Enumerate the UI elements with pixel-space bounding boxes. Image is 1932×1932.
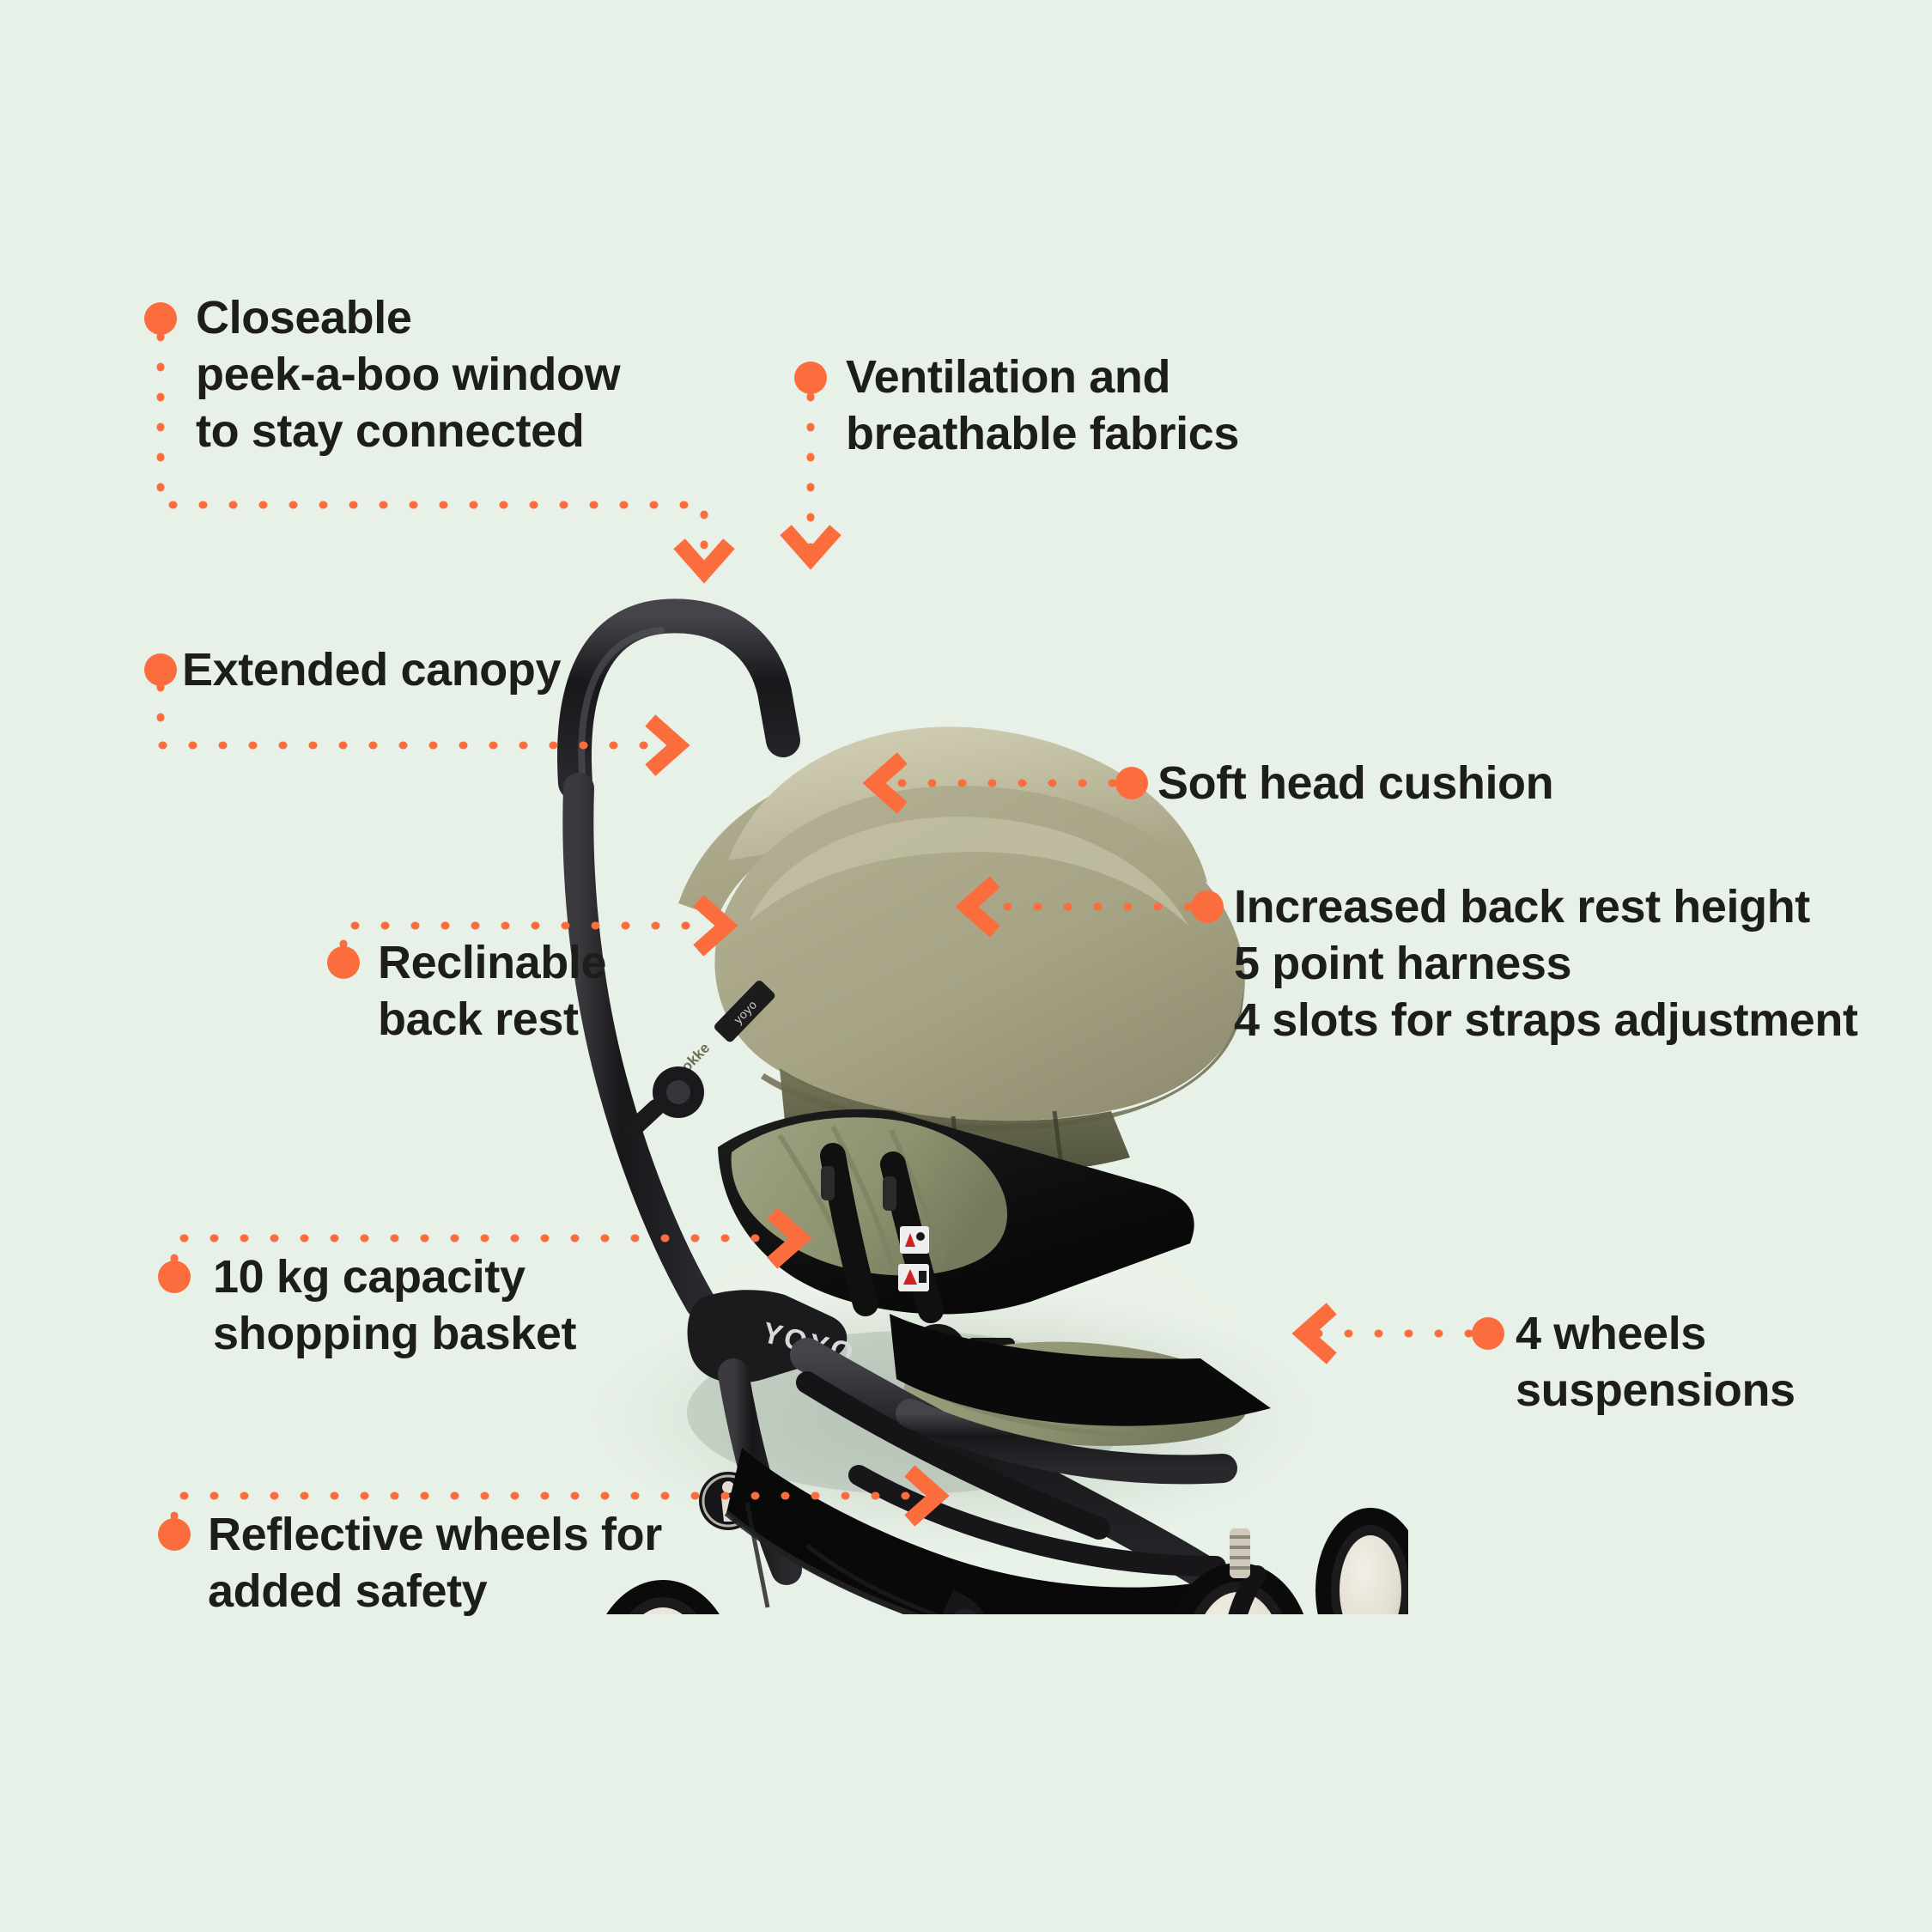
callout-line: peek-a-boo window [196,346,620,403]
marker-basket [158,1261,191,1293]
callout-line: 4 slots for straps adjustment [1234,992,1858,1048]
callout-back-rest-harness: Increased back rest height 5 point harne… [1234,878,1858,1048]
infographic-canvas: yoyo stokke [0,0,1932,1932]
handle-bar [574,616,783,783]
callout-reflective-wheels: Reflective wheels for added safety [208,1506,662,1619]
callout-line: 5 point harness [1234,935,1858,992]
callout-line: Reclinable [378,934,606,991]
suspension-spring [1230,1528,1250,1578]
callout-line: Soft head cushion [1157,755,1553,811]
marker-reflective-wheels [158,1518,191,1551]
callout-reclinable-back-rest: Reclinable back rest [378,934,606,1048]
callout-line: Ventilation and [846,349,1239,405]
callout-line: back rest [378,991,606,1048]
callout-line: 4 wheels [1516,1305,1795,1362]
warning-label-1 [900,1226,929,1254]
callout-line: breathable fabrics [846,405,1239,462]
callout-line: Extended canopy [182,641,561,698]
callout-line: to stay connected [196,403,620,459]
callout-wheels-suspensions: 4 wheels suspensions [1516,1305,1795,1419]
callout-ventilation: Ventilation and breathable fabrics [846,349,1239,462]
product-image-stroller: yoyo stokke [550,515,1408,1614]
harness-slot-2 [883,1176,896,1211]
marker-extended-canopy [144,653,177,686]
callout-extended-canopy: Extended canopy [182,641,561,698]
callout-soft-head-cushion: Soft head cushion [1157,755,1553,811]
marker-peek-a-boo [144,302,177,335]
callout-line: Reflective wheels for [208,1506,662,1563]
marker-reclinable [327,946,360,979]
callout-line: Increased back rest height [1234,878,1858,935]
callout-line: shopping basket [213,1305,576,1362]
wheel-rear-right [1315,1508,1408,1614]
callout-line: 10 kg capacity [213,1249,576,1305]
callout-line: Closeable [196,289,620,346]
harness-slot-1 [821,1166,835,1200]
callout-shopping-basket: 10 kg capacity shopping basket [213,1249,576,1362]
canopy-hinge [632,1066,704,1130]
callout-line: suspensions [1516,1362,1795,1419]
warning-label-2 [898,1264,929,1291]
callout-line: added safety [208,1563,662,1619]
marker-ventilation [794,361,827,394]
marker-suspension [1472,1317,1504,1350]
callout-peek-a-boo-window: Closeable peek-a-boo window to stay conn… [196,289,620,459]
